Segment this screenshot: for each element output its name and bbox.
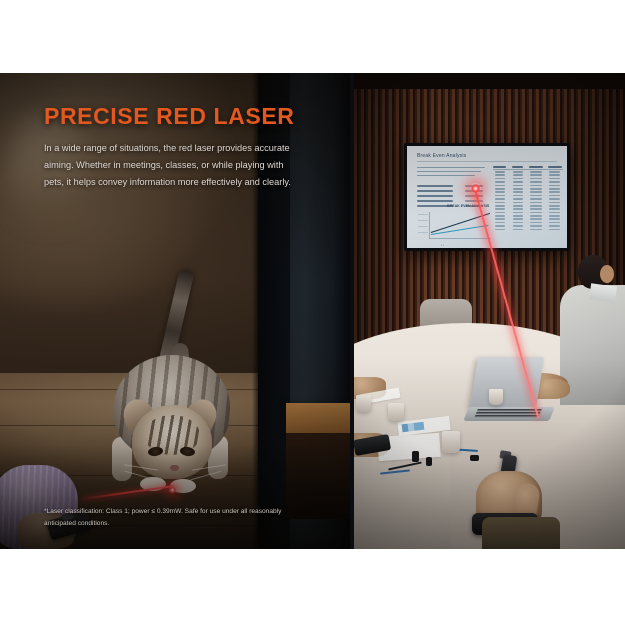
promo-copy: PRECISE RED LASER In a wide range of sit… xyxy=(44,105,302,191)
content-band: PRECISE RED LASER In a wide range of sit… xyxy=(0,73,625,549)
panel-meeting-scene: Break Even Analysis BREAK EVEN ANA xyxy=(354,73,625,549)
panel-divider xyxy=(350,73,354,549)
promo-image: PRECISE RED LASER In a wide range of sit… xyxy=(0,0,625,625)
laser-safety-footnote: *Laser classification: Class 1; power ≤ … xyxy=(44,506,306,529)
page-title: PRECISE RED LASER xyxy=(44,105,302,128)
panel-cat-scene: PRECISE RED LASER In a wide range of sit… xyxy=(0,73,350,549)
laser-dot xyxy=(470,183,481,194)
vignette xyxy=(354,73,625,549)
body-copy: In a wide range of situations, the red l… xyxy=(44,140,302,191)
